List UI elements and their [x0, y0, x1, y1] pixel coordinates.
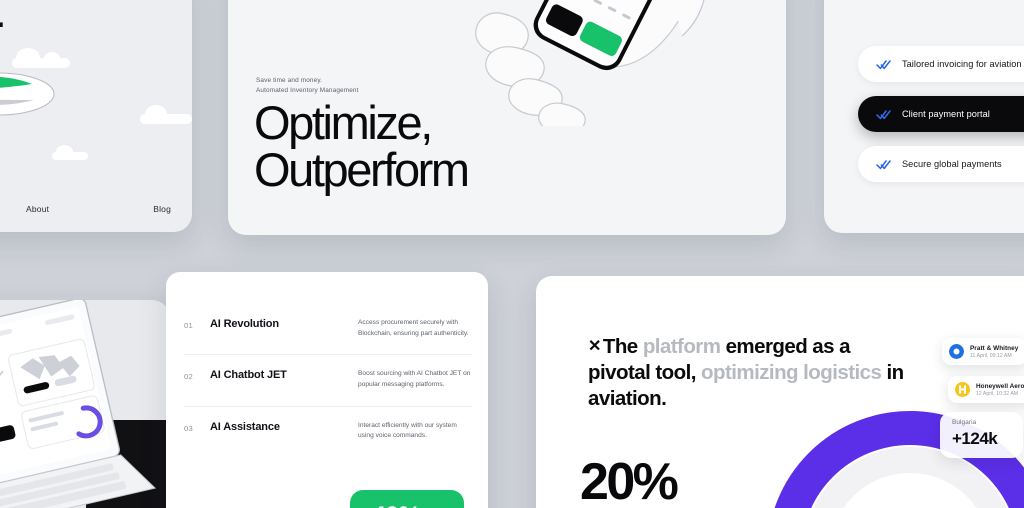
double-check-icon: [876, 59, 891, 70]
statement-part-2: platform: [643, 335, 726, 358]
airplane-wing-illustration: [0, 58, 80, 122]
feature-item-client-payment-portal[interactable]: Client payment portal: [858, 96, 1024, 132]
region-name: Bulgaria: [952, 419, 997, 426]
supplier-name: Honeywell Aerospace: [976, 383, 1024, 390]
step-description: Boost sourcing with AI Chatbot JET on po…: [358, 369, 472, 390]
step-title: AI Assistance: [210, 421, 358, 433]
feature-label: Tailored invoicing for aviation: [902, 59, 1022, 69]
laptop-mockup-panel: 12% 18% 16% 22%: [0, 300, 170, 508]
feature-item-secure-global-payments[interactable]: Secure global payments: [858, 146, 1024, 182]
nav-link-about[interactable]: About: [26, 204, 49, 214]
region-stat-card[interactable]: Bulgaria +124k: [940, 412, 1023, 458]
pratt-whitney-logo: [949, 344, 964, 359]
badge-value: 40%: [372, 502, 420, 508]
statement-panel: ✕The platform emerged as a pivotal tool,…: [536, 276, 1024, 508]
honeywell-logo: [955, 382, 970, 397]
cloud-icon: [52, 152, 88, 160]
cloud-icon: [140, 114, 192, 124]
hand-holding-phone-illustration: [446, 0, 766, 126]
feature-label: Secure global payments: [902, 159, 1002, 169]
step-description: Access procurement securely with Blockch…: [358, 318, 472, 339]
page-title: Optimize, Outperform: [254, 100, 468, 193]
hero-left-line-2: es.: [0, 0, 4, 34]
hero-eyebrow: Save time and money. Automated Inventory…: [256, 76, 359, 97]
close-icon: ✕: [588, 338, 601, 355]
hero-left-clipped-text: ts, es.: [0, 0, 4, 33]
statement-part-1: The: [603, 335, 643, 358]
steps-panel: 01 AI Revolution Access procurement secu…: [166, 272, 488, 508]
step-number: 01: [184, 318, 210, 330]
list-item[interactable]: 01 AI Revolution Access procurement secu…: [184, 304, 472, 355]
list-item[interactable]: 03 AI Assistance Interact efficiently wi…: [184, 407, 472, 457]
region-delta-value: +124k: [952, 429, 997, 449]
supplier-name: Pratt & Whitney: [970, 345, 1018, 352]
step-description: Interact efficiently with our system usi…: [358, 421, 472, 442]
laptop-dashboard-illustration: 12% 18% 16% 22%: [0, 300, 170, 508]
status-badge-forty-percent: 40%: [350, 490, 464, 508]
feature-label: Client payment portal: [902, 109, 990, 119]
feature-item-tailored-invoicing[interactable]: Tailored invoicing for aviation: [858, 46, 1024, 82]
hero-left-panel: ts, es. About Blog: [0, 0, 192, 232]
hero-eyebrow-line-1: Save time and money.: [256, 77, 322, 84]
nav-link-blog[interactable]: Blog: [153, 204, 171, 214]
supplier-card-pratt-whitney[interactable]: Pratt & Whitney 11 April, 09:12 AM: [942, 338, 1024, 365]
features-panel: Tailored invoicing for aviation Client p…: [824, 0, 1024, 233]
headline-line-1: Optimize,: [254, 100, 468, 147]
screenshot-stage: ts, es. About Blog Save time and money. …: [0, 0, 1024, 508]
feature-list: Tailored invoicing for aviation Client p…: [858, 46, 1024, 196]
supplier-card-honeywell[interactable]: Honeywell Aerospace 12 April, 10:32 AM: [948, 376, 1024, 403]
step-number: 03: [184, 421, 210, 433]
hero-eyebrow-line-2: Automated Inventory Management: [256, 87, 359, 94]
headline-line-2: Outperform: [254, 147, 468, 194]
supplier-timestamp: 11 April, 09:12 AM: [970, 353, 1018, 359]
step-title: AI Chatbot JET: [210, 369, 358, 381]
steps-list: 01 AI Revolution Access procurement secu…: [184, 304, 472, 457]
double-check-icon: [876, 159, 891, 170]
statement-part-4: optimizing logistics: [701, 361, 886, 384]
statement-stat-value: 20%: [580, 452, 676, 508]
supplier-timestamp: 12 April, 10:32 AM: [976, 391, 1024, 397]
double-check-icon: [876, 109, 891, 120]
list-item[interactable]: 02 AI Chatbot JET Boost sourcing with AI…: [184, 355, 472, 406]
hero-left-nav: About Blog: [0, 204, 192, 214]
step-number: 02: [184, 369, 210, 381]
hero-center-panel: Save time and money. Automated Inventory…: [228, 0, 786, 235]
statement-text: ✕The platform emerged as a pivotal tool,…: [588, 334, 908, 413]
step-title: AI Revolution: [210, 318, 358, 330]
